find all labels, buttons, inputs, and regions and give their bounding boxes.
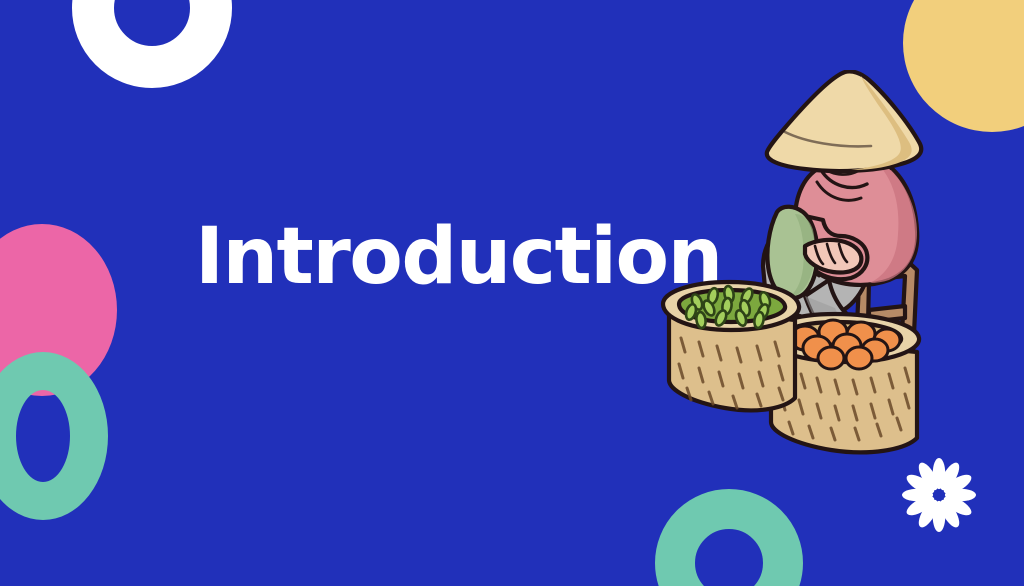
- slide-canvas: Introduction: [0, 0, 1024, 586]
- slide-title: Introduction: [195, 218, 722, 296]
- ring-teal-bottom-decoration: [655, 489, 803, 586]
- asterisk-icon: [902, 458, 976, 532]
- conical-hat-icon: [767, 71, 921, 171]
- ring-teal-left-decoration: [0, 352, 108, 520]
- street-vendor-illustration: [655, 70, 985, 460]
- ring-white-decoration: [72, 0, 232, 88]
- basket-green-vegetables: [663, 282, 799, 410]
- title-container: Introduction: [195, 207, 715, 307]
